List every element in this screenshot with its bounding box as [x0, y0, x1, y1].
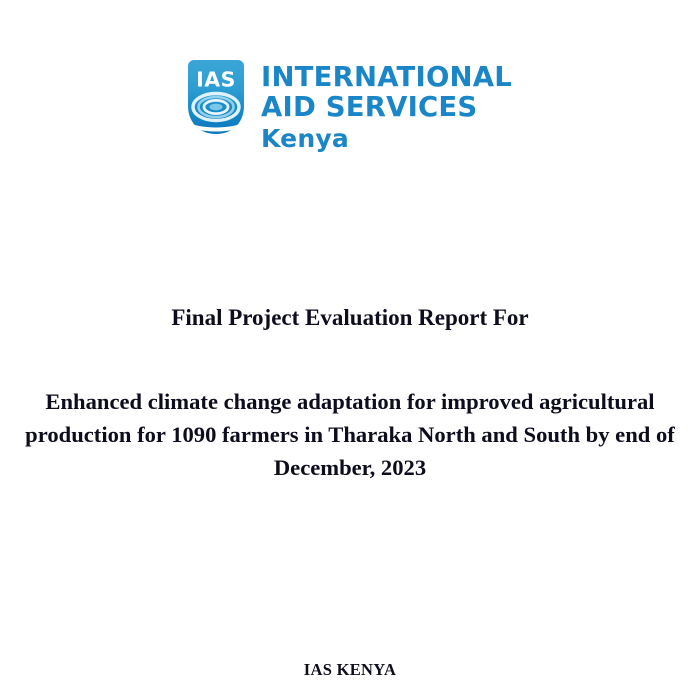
logo-inner: IAS INTERNATIONAL AID SERVICES Kenya: [188, 60, 512, 154]
report-subtitle: Final Project Evaluation Report For: [0, 303, 700, 333]
ias-ripple-badge-icon: IAS: [188, 60, 244, 142]
wordmark-kenya: Kenya: [261, 124, 512, 154]
page-title: Enhanced climate change adaptation for i…: [4, 385, 696, 484]
wordmark-aid-services: AID SERVICES: [261, 92, 512, 122]
document-page: IAS INTERNATIONAL AID SERVICES Kenya Fin…: [0, 0, 700, 700]
footer-organization: IAS KENYA: [0, 659, 700, 681]
logo-wordmark: INTERNATIONAL AID SERVICES Kenya: [261, 60, 512, 154]
organization-logo: IAS INTERNATIONAL AID SERVICES Kenya: [0, 60, 700, 154]
badge-letters: IAS: [196, 68, 236, 92]
wordmark-international: INTERNATIONAL: [261, 62, 512, 92]
